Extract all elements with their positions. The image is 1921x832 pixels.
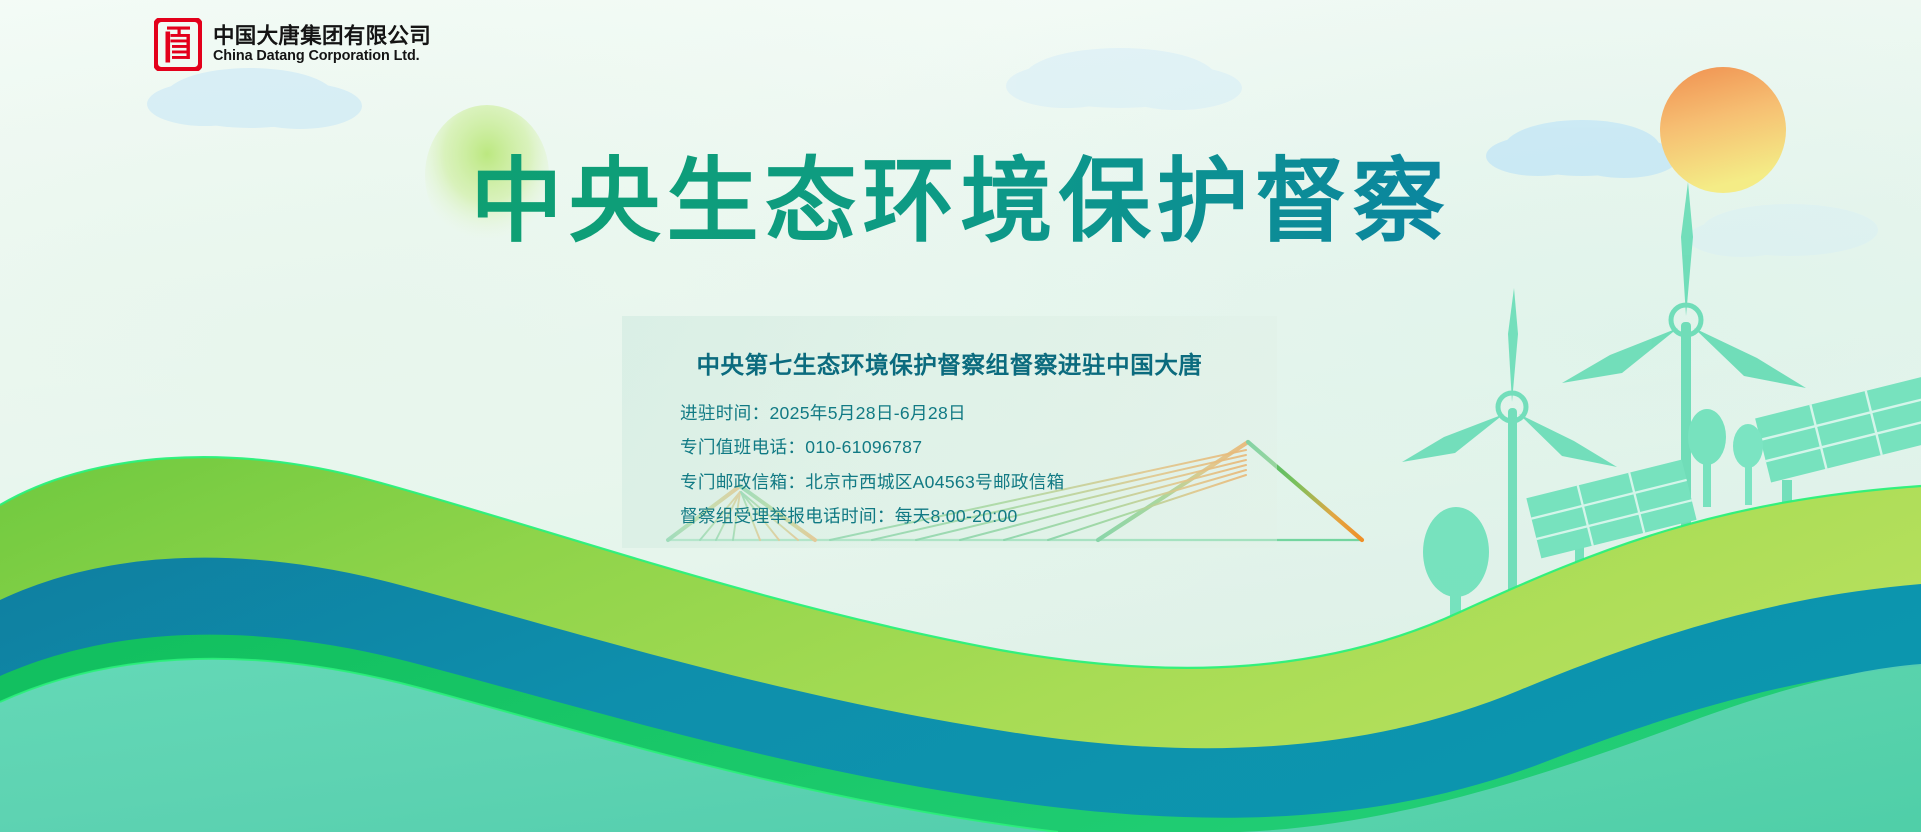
page-title: 中央生态环境保护督察 <box>0 152 1921 251</box>
eco-inspection-banner: 中国大唐集团有限公司 China Datang Corporation Ltd.… <box>0 0 1921 832</box>
inspection-info-panel: 中央第七生态环境保护督察组督察进驻中国大唐 进驻时间：2025年5月28日-6月… <box>622 316 1277 548</box>
brand-text: 中国大唐集团有限公司 China Datang Corporation Ltd. <box>213 24 431 65</box>
inspection-details-list: 进驻时间：2025年5月28日-6月28日 专门值班电话：010-6109678… <box>622 402 1277 529</box>
inspection-subtitle: 中央第七生态环境保护督察组督察进驻中国大唐 <box>622 346 1277 380</box>
info-line-postbox: 专门邮政信箱：北京市西城区A04563号邮政信箱 <box>680 471 1277 495</box>
brand-name-cn: 中国大唐集团有限公司 <box>213 24 431 48</box>
brand-logo: 中国大唐集团有限公司 China Datang Corporation Ltd. <box>154 18 431 71</box>
info-line-visit-period: 进驻时间：2025年5月28日-6月28日 <box>680 402 1277 426</box>
brand-name-en: China Datang Corporation Ltd. <box>213 49 431 65</box>
info-line-hotline: 专门值班电话：010-61096787 <box>680 436 1277 460</box>
datang-seal-icon <box>154 18 202 71</box>
info-line-report-hours: 督察组受理举报电话时间：每天8:00-20:00 <box>680 505 1277 529</box>
